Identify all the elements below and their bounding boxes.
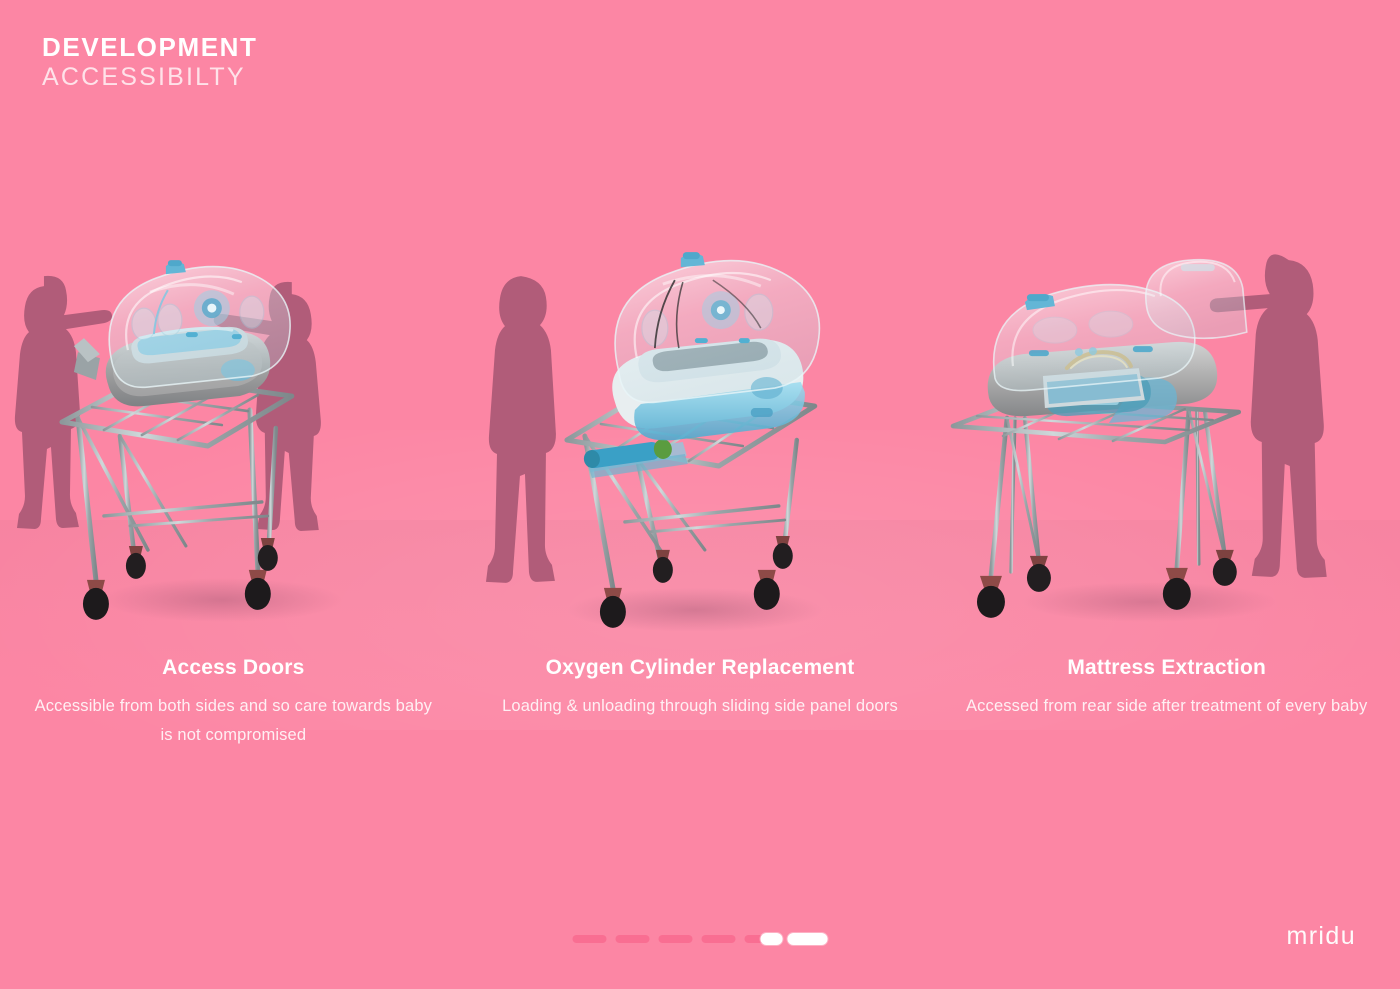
pagination-dot-5-nub bbox=[761, 933, 783, 945]
slide-root: DEVELOPMENT ACCESSIBILTY bbox=[0, 0, 1400, 989]
incubator-dome bbox=[615, 252, 819, 402]
caption-body: Accessible from both sides and so care t… bbox=[28, 692, 439, 750]
render-access-doors bbox=[0, 250, 467, 670]
caption-mattress-extraction: Mattress Extraction Accessed from rear s… bbox=[933, 655, 1400, 750]
pagination[interactable] bbox=[573, 933, 828, 945]
pagination-dot-2[interactable] bbox=[616, 935, 650, 943]
page-subtitle: ACCESSIBILTY bbox=[42, 62, 258, 92]
incubator-dome bbox=[109, 260, 290, 387]
caption-row: Access Doors Accessible from both sides … bbox=[0, 655, 1400, 750]
render-oxygen-cylinder bbox=[467, 250, 934, 670]
render-mattress-extraction bbox=[933, 250, 1400, 670]
caption-title: Oxygen Cylinder Replacement bbox=[495, 655, 906, 681]
render-panels bbox=[0, 250, 1400, 670]
caption-title: Mattress Extraction bbox=[961, 655, 1372, 681]
caption-body: Accessed from rear side after treatment … bbox=[961, 692, 1372, 721]
page-title: DEVELOPMENT bbox=[42, 32, 258, 62]
caption-title: Access Doors bbox=[28, 655, 439, 681]
trolley-frame bbox=[953, 398, 1239, 576]
pagination-dot-4[interactable] bbox=[702, 935, 736, 943]
panel-oxygen-cylinder bbox=[467, 250, 934, 670]
panel-access-doors bbox=[0, 250, 467, 670]
pagination-dot-3[interactable] bbox=[659, 935, 693, 943]
caption-access-doors: Access Doors Accessible from both sides … bbox=[0, 655, 467, 750]
pagination-dot-5[interactable] bbox=[745, 935, 779, 943]
author-signature: mridu bbox=[1286, 922, 1356, 951]
page-header: DEVELOPMENT ACCESSIBILTY bbox=[42, 32, 258, 92]
silhouette-left bbox=[486, 276, 556, 583]
pagination-dot-1[interactable] bbox=[573, 935, 607, 943]
panel-mattress-extraction bbox=[933, 250, 1400, 670]
pagination-dot-6[interactable] bbox=[788, 933, 828, 945]
caption-oxygen-cylinder: Oxygen Cylinder Replacement Loading & un… bbox=[467, 655, 934, 750]
caption-body: Loading & unloading through sliding side… bbox=[495, 692, 906, 721]
